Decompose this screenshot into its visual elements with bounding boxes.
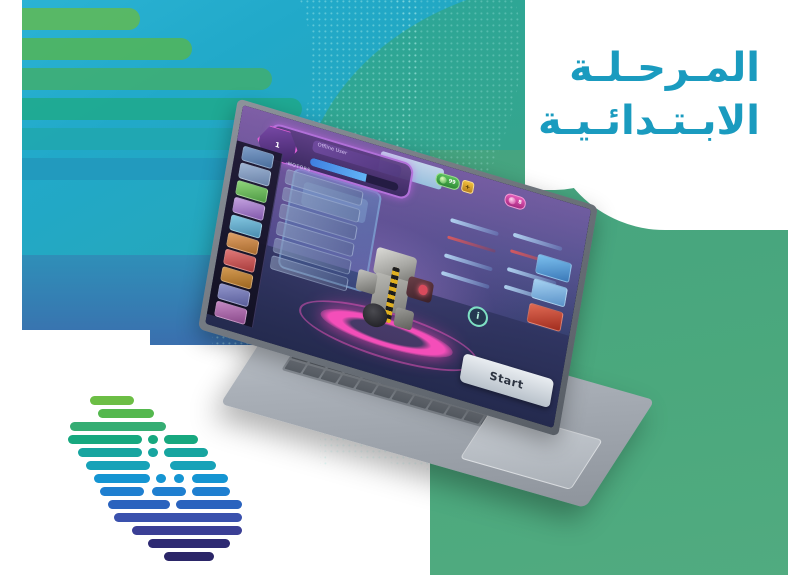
tools-icon[interactable] [531, 278, 568, 308]
gem-icon [509, 196, 517, 205]
laptop-device: 1 Offline User 99 + [200, 150, 620, 460]
logo-bar-13 [174, 474, 184, 483]
decor-bar-0 [22, 8, 140, 30]
logo-bar-22 [148, 539, 230, 548]
level-badge-value: 1 [274, 140, 280, 149]
logo-bar-10 [170, 461, 216, 470]
logo-bar-16 [152, 487, 186, 496]
frame-right [788, 0, 800, 579]
logo-bar-0 [90, 396, 134, 405]
page-title: المـرحـلـة الابـتـدائـيـة [500, 42, 760, 148]
poster-canvas: 1 Offline User 99 + [0, 0, 800, 579]
logo-bar-1 [98, 409, 154, 418]
frame-bottom [0, 575, 800, 579]
add-coins-button[interactable]: + [461, 179, 475, 194]
logo-bar-18 [108, 500, 170, 509]
logo-bar-5 [164, 435, 198, 444]
logo-bar-23 [164, 552, 214, 561]
page-title-line-2: الابـتـدائـيـة [500, 95, 760, 148]
logo-bar-4 [148, 435, 158, 444]
logo-bar-14 [192, 474, 228, 483]
coin-amount: 99 [448, 178, 456, 186]
frame-left [0, 0, 22, 579]
logo-bar-7 [148, 448, 158, 457]
logo-bar-12 [156, 474, 166, 483]
logo-bar-19 [176, 500, 242, 509]
logo-bar-8 [164, 448, 208, 457]
robot-left-arm [355, 269, 377, 295]
robot-right-leg [393, 307, 415, 331]
logo-bar-2 [70, 422, 166, 431]
decor-bar-2 [22, 68, 272, 90]
brand-logo [52, 396, 237, 536]
coin-icon [439, 175, 447, 184]
logo-bar-9 [86, 461, 150, 470]
robot-right-blaster [406, 276, 434, 304]
gem-amount: 8 [518, 199, 523, 206]
logo-bar-6 [78, 448, 142, 457]
logo-bar-21 [132, 526, 242, 535]
logo-bar-20 [114, 513, 242, 522]
page-title-line-1: المـرحـلـة [500, 42, 760, 95]
decor-bar-1 [22, 38, 192, 60]
logo-bar-17 [192, 487, 230, 496]
logo-bar-11 [94, 474, 150, 483]
logo-bar-15 [100, 487, 144, 496]
logo-bar-3 [68, 435, 142, 444]
